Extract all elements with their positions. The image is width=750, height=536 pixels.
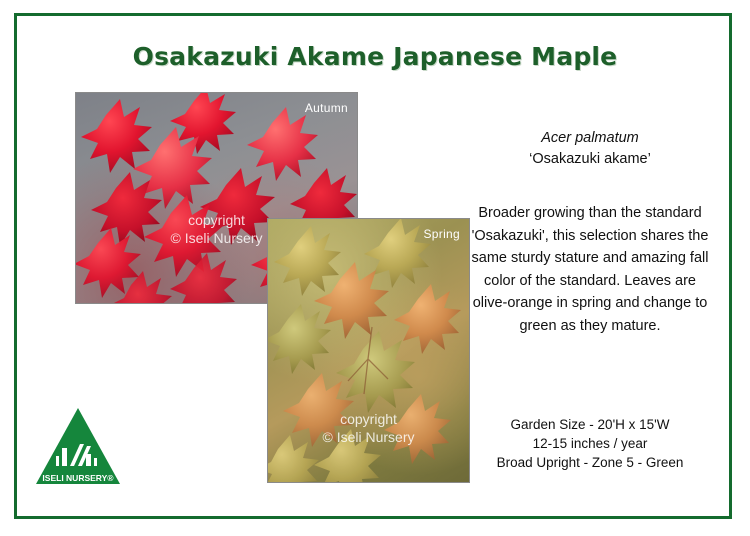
botanical-cultivar-name: ‘Osakazuki akame’: [470, 149, 710, 170]
plant-specifications: Garden Size - 20'H x 15'W 12-15 inches /…: [470, 415, 710, 472]
spec-growth-rate: 12-15 inches / year: [470, 434, 710, 453]
spring-copyright-line1: copyright: [268, 410, 469, 428]
botanical-name-block: Acer palmatum ‘Osakazuki akame’: [470, 128, 710, 170]
logo-triangle-icon: ISELI NURSERY®: [32, 404, 124, 496]
iseli-nursery-logo: ISELI NURSERY®: [32, 404, 124, 496]
page-title: Osakazuki Akame Japanese Maple: [0, 42, 750, 71]
spring-photo: Spring copyright © Iseli Nursery: [267, 218, 470, 483]
botanical-latin-name: Acer palmatum: [470, 128, 710, 149]
spring-copyright-line2: © Iseli Nursery: [268, 428, 469, 446]
spec-garden-size: Garden Size - 20'H x 15'W: [470, 415, 710, 434]
plant-info-card: Osakazuki Akame Japanese Maple: [0, 0, 750, 536]
logo-wordmark: ISELI NURSERY®: [42, 473, 114, 483]
spec-habit-zone-color: Broad Upright - Zone 5 - Green: [470, 453, 710, 472]
spring-copyright: copyright © Iseli Nursery: [268, 410, 469, 446]
spring-season-label: Spring: [424, 227, 461, 241]
autumn-season-label: Autumn: [305, 101, 348, 115]
plant-description: Broader growing than the standard 'Osaka…: [470, 202, 710, 337]
